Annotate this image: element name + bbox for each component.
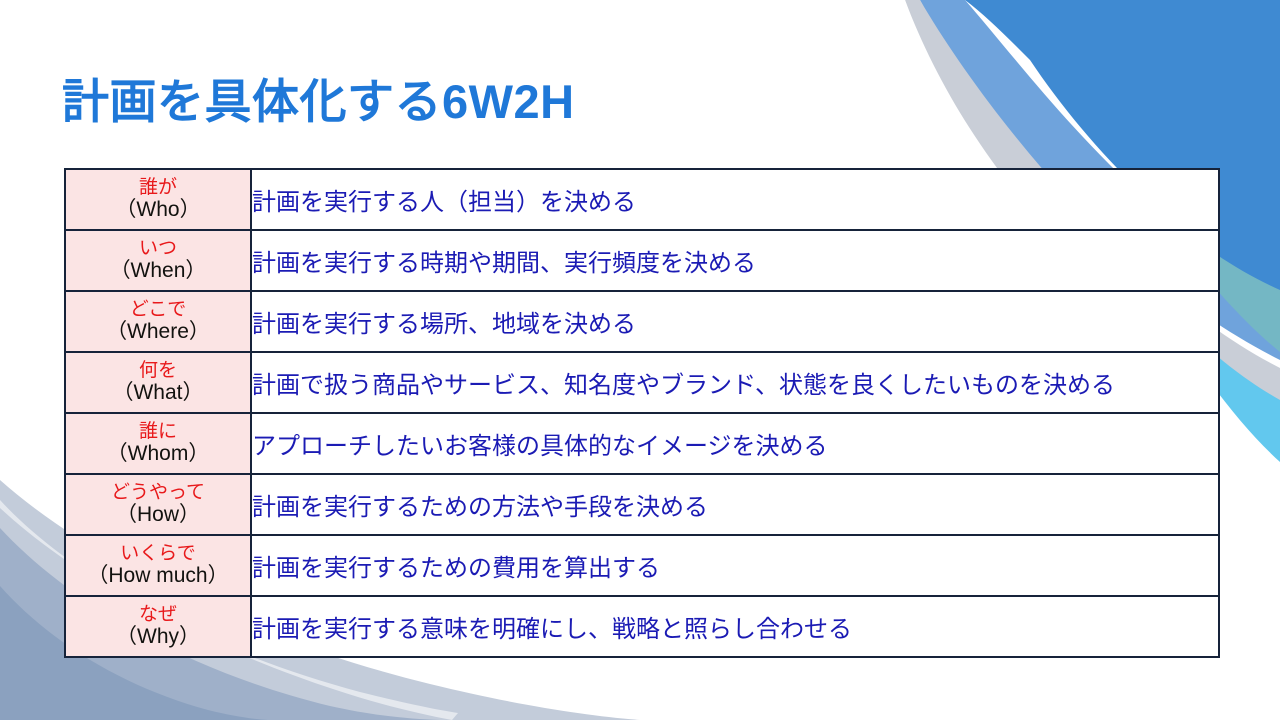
label-english: （Whom） xyxy=(66,442,250,466)
row-description-who: 計画を実行する人（担当）を決める xyxy=(251,169,1219,230)
page-title: 計画を具体化する6W2H xyxy=(62,75,575,129)
table-row: どうやって （How） 計画を実行するための方法や手段を決める xyxy=(65,474,1219,535)
row-description-how: 計画を実行するための方法や手段を決める xyxy=(251,474,1219,535)
table-row: なぜ （Why） 計画を実行する意味を明確にし、戦略と照らし合わせる xyxy=(65,596,1219,657)
row-label-whom: 誰に （Whom） xyxy=(65,413,251,474)
label-japanese: どこで xyxy=(66,299,250,320)
presentation-slide: 計画を具体化する6W2H 誰が （Who） 計画を実行する人（担当）を決める い… xyxy=(0,0,1280,720)
row-label-when: いつ （When） xyxy=(65,230,251,291)
label-japanese: いつ xyxy=(66,238,250,259)
description-text: 計画を実行するための方法や手段を決める xyxy=(252,494,708,521)
label-english: （Why） xyxy=(66,625,250,649)
row-description-when: 計画を実行する時期や期間、実行頻度を決める xyxy=(251,230,1219,291)
label-english: （Who） xyxy=(66,198,250,222)
label-english: （How much） xyxy=(66,564,250,588)
row-label-what: 何を （What） xyxy=(65,352,251,413)
row-label-where: どこで （Where） xyxy=(65,291,251,352)
label-japanese: 何を xyxy=(66,360,250,381)
description-text: 計画で扱う商品やサービス、知名度やブランド、状態を良くしたいものを決める xyxy=(252,372,1115,399)
row-label-how: どうやって （How） xyxy=(65,474,251,535)
table-row: 誰に （Whom） アプローチしたいお客様の具体的なイメージを決める xyxy=(65,413,1219,474)
label-japanese: なぜ xyxy=(66,604,250,625)
description-text: アプローチしたいお客様の具体的なイメージを決める xyxy=(252,433,828,460)
label-english: （How） xyxy=(66,503,250,527)
row-description-what: 計画で扱う商品やサービス、知名度やブランド、状態を良くしたいものを決める xyxy=(251,352,1219,413)
table-row: いくらで （How much） 計画を実行するための費用を算出する xyxy=(65,535,1219,596)
label-english: （Where） xyxy=(66,320,250,344)
label-japanese: 誰が xyxy=(66,177,250,198)
description-text: 計画を実行する意味を明確にし、戦略と照らし合わせる xyxy=(252,616,852,643)
label-english: （What） xyxy=(66,381,250,405)
table-row: どこで （Where） 計画を実行する場所、地域を決める xyxy=(65,291,1219,352)
row-description-why: 計画を実行する意味を明確にし、戦略と照らし合わせる xyxy=(251,596,1219,657)
row-label-who: 誰が （Who） xyxy=(65,169,251,230)
label-japanese: いくらで xyxy=(66,543,250,564)
table-row: 誰が （Who） 計画を実行する人（担当）を決める xyxy=(65,169,1219,230)
description-text: 計画を実行する時期や期間、実行頻度を決める xyxy=(252,250,756,277)
label-japanese: どうやって xyxy=(66,482,250,503)
label-japanese: 誰に xyxy=(66,421,250,442)
description-text: 計画を実行する場所、地域を決める xyxy=(252,311,636,338)
row-label-why: なぜ （Why） xyxy=(65,596,251,657)
label-english: （When） xyxy=(66,259,250,283)
six-w-two-h-table: 誰が （Who） 計画を実行する人（担当）を決める いつ （When） 計画を実… xyxy=(64,168,1220,658)
row-description-how-much: 計画を実行するための費用を算出する xyxy=(251,535,1219,596)
row-label-how-much: いくらで （How much） xyxy=(65,535,251,596)
row-description-where: 計画を実行する場所、地域を決める xyxy=(251,291,1219,352)
table-row: いつ （When） 計画を実行する時期や期間、実行頻度を決める xyxy=(65,230,1219,291)
description-text: 計画を実行するための費用を算出する xyxy=(252,555,660,582)
table-body: 誰が （Who） 計画を実行する人（担当）を決める いつ （When） 計画を実… xyxy=(65,169,1219,657)
table-row: 何を （What） 計画で扱う商品やサービス、知名度やブランド、状態を良くしたい… xyxy=(65,352,1219,413)
description-text: 計画を実行する人（担当）を決める xyxy=(252,189,636,216)
row-description-whom: アプローチしたいお客様の具体的なイメージを決める xyxy=(251,413,1219,474)
